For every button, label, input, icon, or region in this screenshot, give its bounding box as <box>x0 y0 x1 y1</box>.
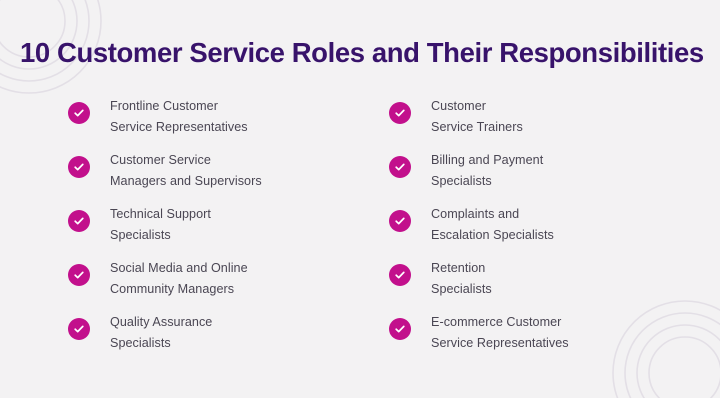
check-circle-icon <box>389 156 411 178</box>
check-circle-icon <box>68 156 90 178</box>
check-circle-icon <box>389 318 411 340</box>
list-item-label: Social Media and Online Community Manage… <box>110 258 248 299</box>
check-circle-icon <box>389 102 411 124</box>
list-item-label: Retention Specialists <box>431 258 492 299</box>
roles-column-right: Customer Service Trainers Billing and Pa… <box>389 96 720 366</box>
list-item[interactable]: Complaints and Escalation Specialists <box>389 204 720 258</box>
list-item-label: Customer Service Trainers <box>431 96 523 137</box>
list-item[interactable]: E-commerce Customer Service Representati… <box>389 312 720 366</box>
bottom-strip <box>0 398 720 404</box>
list-item[interactable]: Quality Assurance Specialists <box>68 312 399 366</box>
list-item-label: Frontline Customer Service Representativ… <box>110 96 248 137</box>
list-item-label: Customer Service Managers and Supervisor… <box>110 150 262 191</box>
list-item[interactable]: Billing and Payment Specialists <box>389 150 720 204</box>
list-item[interactable]: Technical Support Specialists <box>68 204 399 258</box>
list-item[interactable]: Frontline Customer Service Representativ… <box>68 96 399 150</box>
list-item[interactable]: Customer Service Trainers <box>389 96 720 150</box>
check-circle-icon <box>68 318 90 340</box>
slide-canvas: 10 Customer Service Roles and Their Resp… <box>0 0 720 404</box>
page-title: 10 Customer Service Roles and Their Resp… <box>20 36 704 70</box>
check-circle-icon <box>68 264 90 286</box>
list-item-label: Billing and Payment Specialists <box>431 150 543 191</box>
check-circle-icon <box>68 102 90 124</box>
list-item-label: Technical Support Specialists <box>110 204 211 245</box>
list-item[interactable]: Retention Specialists <box>389 258 720 312</box>
list-item-label: E-commerce Customer Service Representati… <box>431 312 569 353</box>
check-circle-icon <box>389 210 411 232</box>
list-item[interactable]: Social Media and Online Community Manage… <box>68 258 399 312</box>
roles-list: Frontline Customer Service Representativ… <box>0 96 720 366</box>
list-item[interactable]: Customer Service Managers and Supervisor… <box>68 150 399 204</box>
list-item-label: Quality Assurance Specialists <box>110 312 212 353</box>
list-item-label: Complaints and Escalation Specialists <box>431 204 554 245</box>
check-circle-icon <box>68 210 90 232</box>
roles-column-left: Frontline Customer Service Representativ… <box>68 96 399 366</box>
check-circle-icon <box>389 264 411 286</box>
